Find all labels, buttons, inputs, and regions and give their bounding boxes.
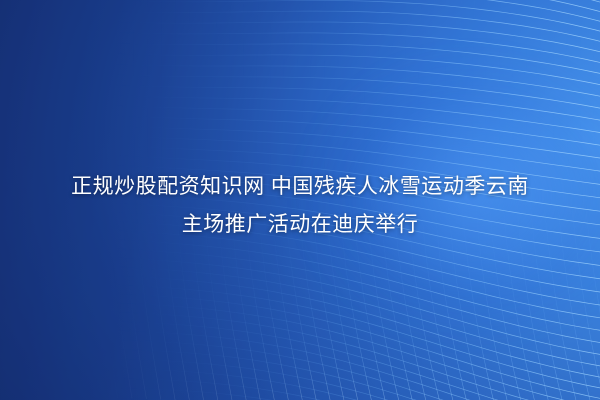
banner-title-line-1: 正规炒股配资知识网 中国残疾人冰雪运动季云南 <box>0 168 600 206</box>
banner-image: 正规炒股配资知识网 中国残疾人冰雪运动季云南 主场推广活动在迪庆举行 <box>0 0 600 400</box>
banner-title-line-2: 主场推广活动在迪庆举行 <box>0 206 600 244</box>
banner-title: 正规炒股配资知识网 中国残疾人冰雪运动季云南 主场推广活动在迪庆举行 <box>0 168 600 244</box>
